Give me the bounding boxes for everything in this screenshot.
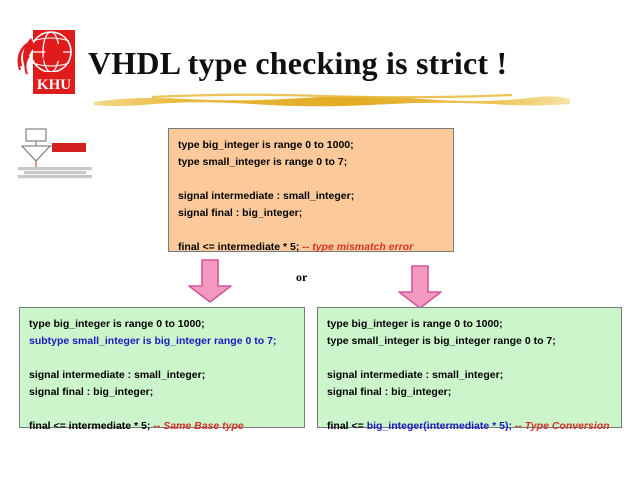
down-arrow-right [396,264,444,310]
code-line: type big_integer is range 0 to 1000; [327,319,621,336]
code-token-black: type big_integer is range 0 to 1000; [29,318,205,330]
code-line: signal final : big_integer; [178,208,453,225]
code-token-blue: big_integer(intermediate * 5); [367,420,515,432]
code-token-black: final <= [327,420,367,432]
code-token-black: final <= intermediate * 5; [29,420,153,432]
khu-logo-text: KHU [37,77,71,93]
brush-stroke-icon [92,93,572,107]
code-line: final <= intermediate * 5; -- type misma… [178,242,453,259]
code-box-same-base-type: type big_integer is range 0 to 1000; sub… [19,307,305,428]
code-line: subtype small_integer is big_integer ran… [29,336,304,353]
code-line: type small_integer is big_integer range … [327,336,621,353]
down-arrow-left [186,258,234,304]
code-token-black: signal intermediate : small_integer; [327,369,503,381]
code-token-comment: -- Same Base type [153,420,243,432]
arrow-down-icon [186,258,234,304]
code-line-blank [327,404,621,421]
code-line-blank [327,353,621,370]
code-token-comment: -- Type Conversion [515,420,610,432]
code-box-type-mismatch: type big_integer is range 0 to 1000; typ… [168,128,454,252]
title-brush-underline-decoration [92,93,572,107]
arrow-down-icon [396,264,444,310]
code-token-comment: -- type mismatch error [302,241,413,253]
code-line-blank [29,353,304,370]
code-line-blank [178,174,453,191]
code-line: signal intermediate : small_integer; [327,370,621,387]
code-line: final <= intermediate * 5; -- Same Base … [29,421,304,438]
code-token-black: signal final : big_integer; [178,207,302,219]
code-line: type big_integer is range 0 to 1000; [29,319,304,336]
code-line: type small_integer is range 0 to 7; [178,157,453,174]
code-line-blank [29,404,304,421]
lab-logo-graphic [14,127,106,179]
code-token-black: type small_integer is range 0 to 7; [178,156,347,168]
khu-university-logo: KHU [13,26,79,98]
code-line-blank [178,225,453,242]
code-line: signal final : big_integer; [29,387,304,404]
khu-logo-graphic: KHU [13,26,79,98]
page-title: VHDL type checking is strict ! [88,44,618,82]
code-token-black: type big_integer is range 0 to 1000; [327,318,503,330]
code-token-black: type big_integer is range 0 to 1000; [178,139,354,151]
code-token-black: signal intermediate : small_integer; [29,369,205,381]
lab-secondary-logo [14,127,106,179]
code-token-black: signal final : big_integer; [327,386,451,398]
code-token-black: signal final : big_integer; [29,386,153,398]
code-line: signal final : big_integer; [327,387,621,404]
code-line: signal intermediate : small_integer; [178,191,453,208]
code-token-blue: subtype small_integer is big_integer ran… [29,335,276,347]
code-line: final <= big_integer(intermediate * 5); … [327,421,621,438]
code-box-type-conversion: type big_integer is range 0 to 1000; typ… [317,307,622,428]
code-line: signal intermediate : small_integer; [29,370,304,387]
code-line: type big_integer is range 0 to 1000; [178,140,453,157]
code-token-black: signal intermediate : small_integer; [178,190,354,202]
code-token-black: type small_integer is big_integer range … [327,335,556,347]
code-token-black: final <= intermediate * 5; [178,241,302,253]
or-separator-label: or [296,270,307,285]
